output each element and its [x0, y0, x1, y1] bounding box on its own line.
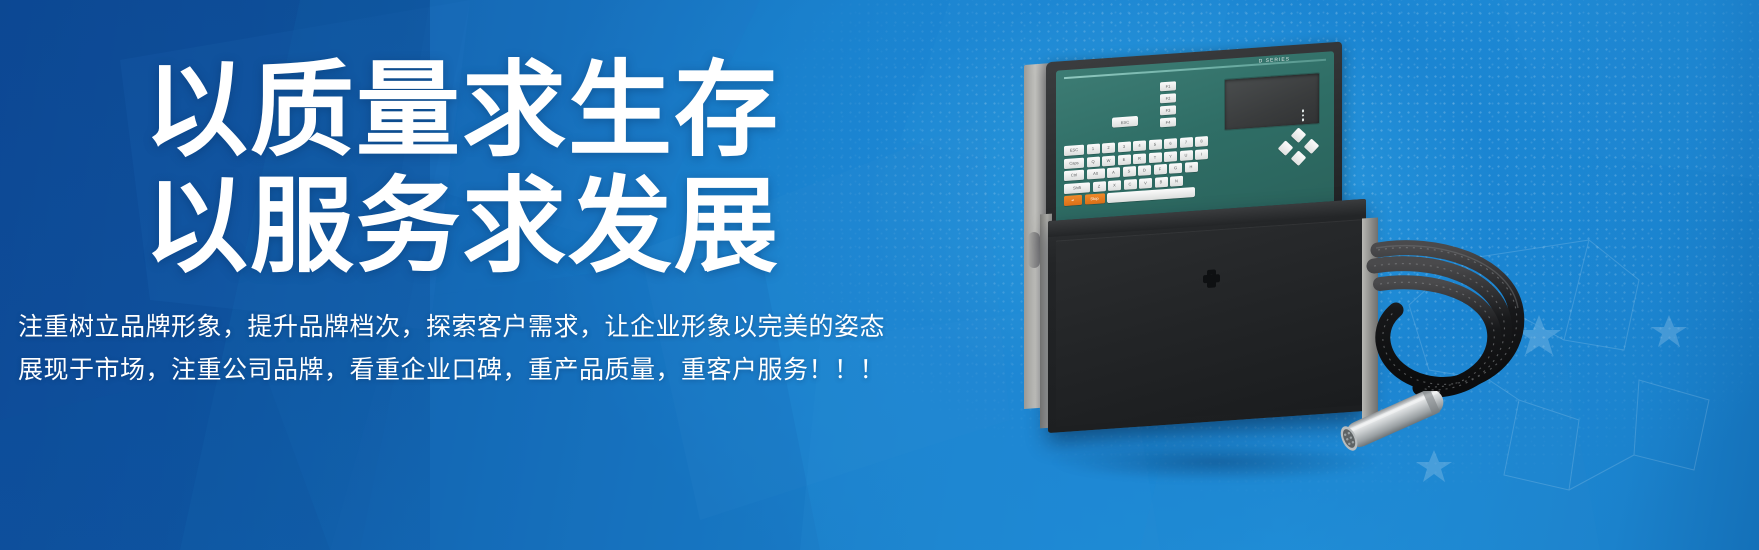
key-4[interactable]: 4 [1133, 140, 1146, 151]
promo-banner: 以质量求生存 以服务求发展 注重树立品牌形象，提升品牌档次，探索客户需求，让企业… [0, 0, 1759, 550]
printer-hinge [1028, 232, 1040, 268]
headline-line-2: 以服务求发展 [144, 174, 1018, 280]
product-image-inkjet-printer: D SERIES F1 F2 F3 F4 ESC [1010, 42, 1570, 512]
key-r[interactable]: R [1133, 153, 1146, 164]
key-t[interactable]: T [1149, 152, 1162, 163]
key-caps[interactable]: Caps [1064, 157, 1084, 168]
key-6[interactable]: 6 [1164, 138, 1177, 149]
key-f4[interactable]: F4 [1160, 117, 1176, 127]
key-b[interactable]: B [1155, 176, 1168, 187]
key-f3[interactable]: F3 [1160, 105, 1176, 115]
key-d[interactable]: D [1138, 165, 1151, 176]
key-start-orange[interactable]: ↵ [1064, 195, 1082, 206]
key-shift[interactable]: Shift [1064, 182, 1090, 194]
key-g[interactable]: G [1169, 163, 1182, 174]
status-dots [1302, 109, 1305, 121]
key-y[interactable]: Y [1164, 151, 1177, 162]
key-i[interactable]: I [1195, 149, 1208, 160]
key-ctrl[interactable]: Ctrl [1064, 170, 1084, 181]
key-q[interactable]: Q [1087, 156, 1100, 167]
key-esc-large[interactable]: ESC [1112, 116, 1138, 128]
key-a[interactable]: A [1107, 167, 1120, 178]
key-e[interactable]: E [1118, 154, 1131, 165]
key-s[interactable]: S [1123, 166, 1136, 177]
banner-copy: 以质量求生存 以服务求发展 注重树立品牌形象，提升品牌档次，探索客户需求，让企业… [18, 58, 1018, 391]
printer-cabinet [1048, 199, 1366, 433]
key-h[interactable]: H [1185, 162, 1198, 173]
key-f[interactable]: F [1154, 164, 1167, 175]
key-3[interactable]: 3 [1118, 141, 1131, 152]
key-8[interactable]: 8 [1195, 136, 1208, 147]
key-7[interactable]: 7 [1180, 137, 1193, 148]
key-1[interactable]: 1 [1087, 144, 1100, 155]
key-esc[interactable]: ESC [1064, 145, 1084, 156]
lcd-display [1224, 72, 1320, 131]
key-alt[interactable]: Alt [1087, 168, 1105, 179]
key-n[interactable]: N [1170, 175, 1183, 186]
key-f2[interactable]: F2 [1160, 93, 1176, 103]
cabinet-door [1056, 219, 1362, 426]
key-c[interactable]: C [1124, 179, 1137, 190]
headline: 以质量求生存 以服务求发展 [18, 58, 1018, 280]
keypad: ESC 1 2 3 4 5 6 7 8 Caps Q W E [1064, 128, 1324, 209]
key-5[interactable]: 5 [1149, 139, 1162, 150]
key-f1[interactable]: F1 [1160, 81, 1176, 91]
headline-line-1: 以质量求生存 [144, 58, 1018, 164]
key-u[interactable]: U [1180, 150, 1193, 161]
subtitle-line-1: 注重树立品牌形象，提升品牌档次，探索客户需求，让企业形象以完美的姿态 [18, 306, 1018, 349]
key-stop-orange[interactable]: Stop [1085, 193, 1105, 204]
key-x[interactable]: X [1108, 180, 1121, 191]
key-2[interactable]: 2 [1102, 143, 1115, 154]
key-v[interactable]: V [1139, 177, 1152, 188]
key-z[interactable]: Z [1093, 181, 1106, 192]
door-latch-icon[interactable] [1203, 269, 1220, 288]
key-w[interactable]: W [1102, 155, 1115, 166]
print-head-nozzle [1328, 391, 1454, 453]
subtitle-line-2: 展现于市场，注重公司品牌，看重企业口碑，重产品质量，重客户服务！！！ [18, 349, 1018, 392]
function-key-group: F1 F2 F3 F4 [1160, 81, 1176, 127]
subtitle: 注重树立品牌形象，提升品牌档次，探索客户需求，让企业形象以完美的姿态 展现于市场… [18, 306, 1018, 391]
